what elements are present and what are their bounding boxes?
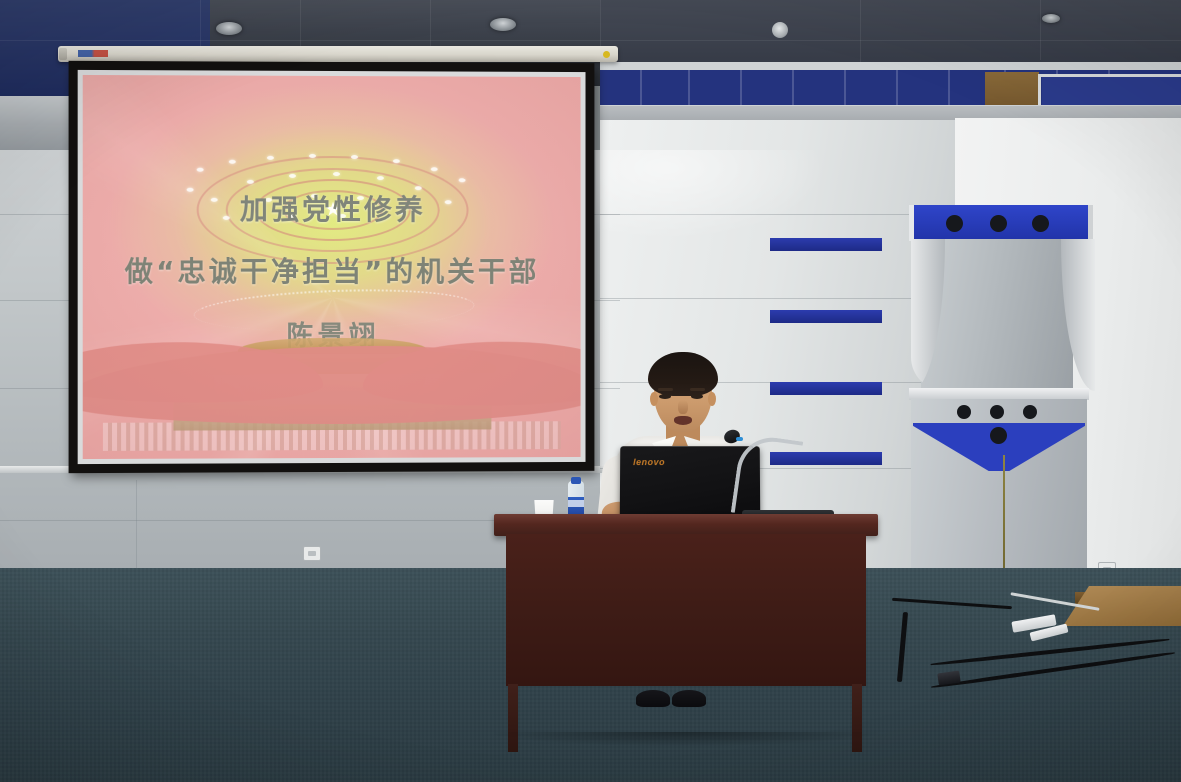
screen-inner-border: ★ bbox=[78, 70, 586, 464]
ceiling-downlight bbox=[216, 22, 242, 35]
projection-screen: ★ bbox=[69, 61, 595, 473]
desk-front-panel bbox=[506, 534, 866, 686]
display-cabinet bbox=[905, 205, 1101, 615]
speaker-eye bbox=[691, 394, 703, 399]
cabinet-hole bbox=[990, 427, 1007, 444]
wall-stripe-bar bbox=[770, 238, 882, 251]
cabinet-hole bbox=[990, 215, 1007, 232]
slide-title-block: 加强党性修养 做“忠诚干净担当”的机关干部 bbox=[83, 188, 581, 291]
ceiling-downlight bbox=[490, 18, 516, 31]
cabinet-hole bbox=[946, 215, 963, 232]
speaker-eye bbox=[659, 394, 671, 399]
wall-panel-seam bbox=[136, 480, 137, 570]
cabinet-hole bbox=[1032, 215, 1049, 232]
slide-title-line-1: 加强党性修养 bbox=[83, 188, 581, 229]
speaker-eyebrow bbox=[690, 388, 705, 391]
ceiling-tile-seam bbox=[860, 0, 861, 70]
bottle-cap bbox=[571, 477, 581, 484]
microphone-ring bbox=[736, 437, 743, 441]
speaker-mouth bbox=[674, 416, 692, 425]
wall-socket[interactable] bbox=[303, 546, 321, 561]
roller-knob[interactable] bbox=[603, 51, 610, 58]
desk-top bbox=[494, 514, 878, 536]
projector-screen-roller[interactable] bbox=[58, 46, 618, 62]
cabinet-hole bbox=[957, 405, 971, 419]
cabinet-hole bbox=[1023, 405, 1037, 419]
bottle-label-highlight bbox=[568, 500, 584, 507]
wall-stripe-bar bbox=[770, 310, 882, 323]
speaker-ear bbox=[708, 392, 716, 406]
ceiling-tile-seam bbox=[0, 40, 1181, 41]
roller-brand-logo bbox=[78, 50, 108, 57]
roller-endcap bbox=[59, 48, 67, 60]
presentation-slide: ★ bbox=[83, 75, 581, 459]
lecture-hall-photo: ★ bbox=[0, 0, 1181, 782]
cabinet-hole bbox=[990, 405, 1004, 419]
cabinet-door-split[interactable] bbox=[1003, 455, 1005, 585]
ceiling-sprinkler-icon bbox=[772, 22, 788, 38]
wall-trim bbox=[1040, 74, 1181, 77]
ceiling-tile-seam bbox=[1040, 0, 1041, 60]
speaker-ear bbox=[650, 392, 658, 406]
speaker-eyebrow bbox=[658, 388, 673, 391]
desk-shadow bbox=[494, 732, 878, 746]
ceiling-downlight bbox=[1042, 14, 1060, 23]
slide-title-line-2: 做“忠诚干净担当”的机关干部 bbox=[83, 250, 581, 290]
speaker-nose bbox=[678, 400, 688, 414]
presenter-desk bbox=[494, 514, 878, 744]
lenovo-logo: lenovo bbox=[633, 457, 665, 467]
wall-stripe-bar bbox=[770, 382, 882, 395]
slide-tiananmen-artwork bbox=[83, 308, 581, 459]
cabinet-top-blue-bar bbox=[909, 205, 1093, 241]
